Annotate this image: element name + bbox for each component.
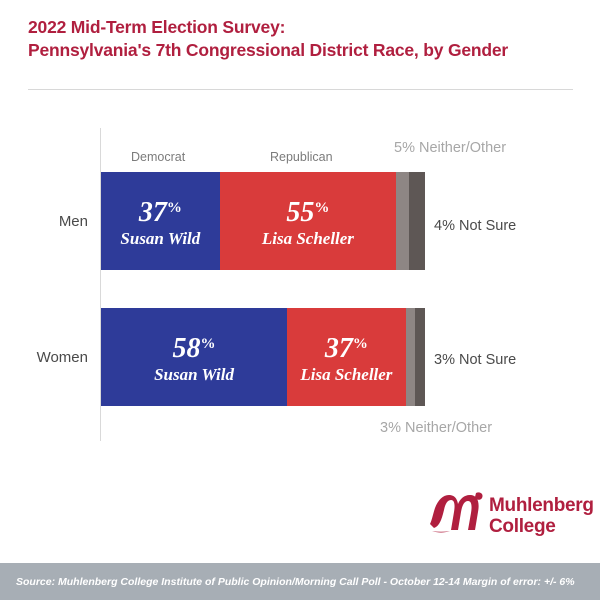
bar-row-men: 37% Susan Wild 55% Lisa Scheller bbox=[101, 172, 425, 270]
script-m-monogram-icon bbox=[430, 488, 486, 545]
column-header-republican: Republican bbox=[270, 150, 333, 164]
logo-line-2: College bbox=[489, 516, 556, 537]
bar-value-women-democrat: 58% bbox=[173, 330, 216, 363]
bar-segment-men-republican[interactable]: 55% Lisa Scheller bbox=[220, 172, 396, 270]
bar-segment-women-not-sure[interactable] bbox=[406, 308, 416, 406]
callout-men-not-sure: 4% Not Sure bbox=[434, 218, 516, 234]
source-note: Source: Muhlenberg College Institute of … bbox=[16, 576, 575, 588]
bar-value-women-republican: 37% bbox=[325, 330, 368, 363]
bar-row-women: 58% Susan Wild 37% Lisa Scheller bbox=[101, 308, 425, 406]
bar-value-men-republican: 55% bbox=[286, 194, 329, 227]
bar-segment-men-neither-other[interactable] bbox=[409, 172, 425, 270]
category-label-women: Women bbox=[37, 349, 88, 366]
bar-segment-men-democrat[interactable]: 37% Susan Wild bbox=[101, 172, 220, 270]
column-header-democrat: Democrat bbox=[131, 150, 185, 164]
callout-women-neither-other: 3% Neither/Other bbox=[380, 420, 492, 436]
bar-candidate-men-democrat: Susan Wild bbox=[120, 229, 200, 249]
muhlenberg-logo: Muhlenberg College bbox=[430, 487, 580, 545]
footer-bar: Source: Muhlenberg College Institute of … bbox=[0, 563, 600, 600]
bar-candidate-women-republican: Lisa Scheller bbox=[300, 365, 392, 385]
bar-candidate-women-democrat: Susan Wild bbox=[154, 365, 234, 385]
logo-text: Muhlenberg College bbox=[489, 495, 594, 537]
bar-segment-women-neither-other[interactable] bbox=[415, 308, 425, 406]
bar-segment-women-democrat[interactable]: 58% Susan Wild bbox=[101, 308, 287, 406]
bar-segment-men-not-sure[interactable] bbox=[396, 172, 409, 270]
bar-segment-women-republican[interactable]: 37% Lisa Scheller bbox=[287, 308, 406, 406]
callout-men-neither-other: 5% Neither/Other bbox=[394, 140, 506, 156]
logo-line-1: Muhlenberg bbox=[489, 495, 594, 516]
callout-women-not-sure: 3% Not Sure bbox=[434, 352, 516, 368]
bar-value-men-democrat: 37% bbox=[139, 194, 182, 227]
category-label-men: Men bbox=[59, 213, 88, 230]
bar-candidate-men-republican: Lisa Scheller bbox=[262, 229, 354, 249]
